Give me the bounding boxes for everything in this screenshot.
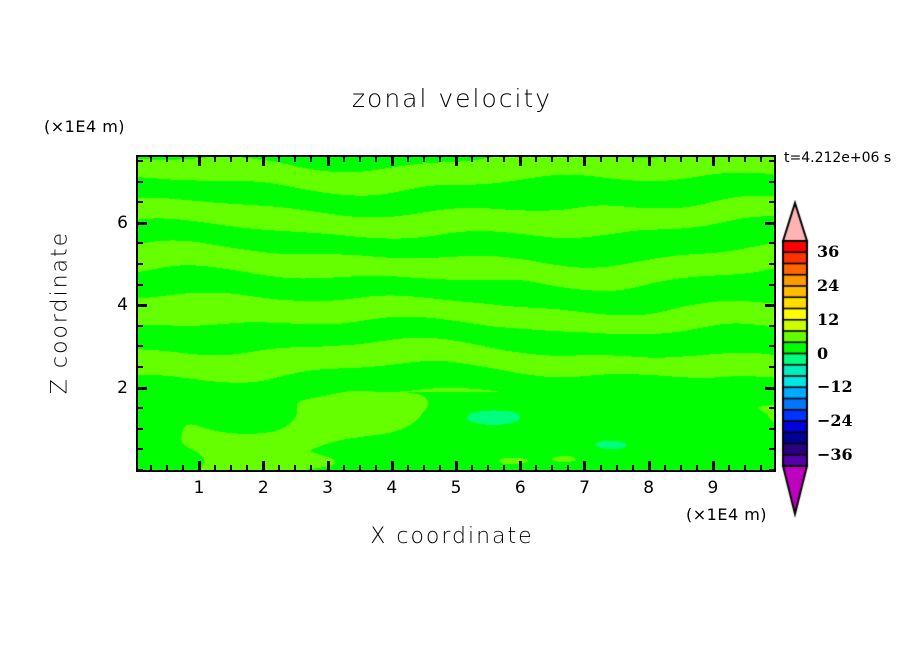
colorbar-tick-label: −24	[817, 411, 853, 430]
colorbar-tick-label: 36	[817, 242, 839, 261]
colorbar-tick-label: −12	[817, 377, 853, 396]
colorbar-tick-label: 24	[817, 276, 839, 295]
colorbar-tick-label: 0	[817, 344, 828, 363]
colorbar-tick-label: −36	[817, 445, 853, 464]
colorbar-labels: 3624120−12−24−36	[0, 0, 904, 654]
colorbar-tick-label: 12	[817, 310, 839, 329]
